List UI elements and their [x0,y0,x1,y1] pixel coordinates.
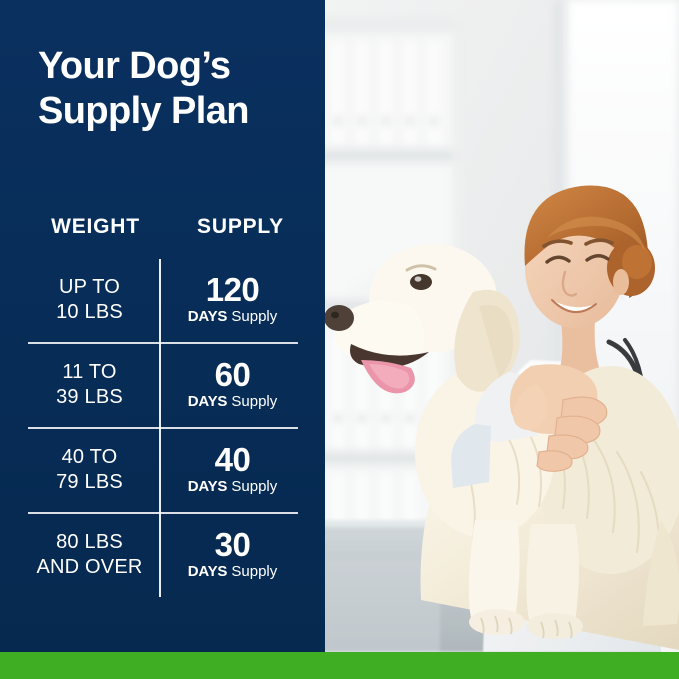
cell-supply: 120 DAYS Supply [159,273,298,326]
column-header-weight: WEIGHT [28,215,169,239]
weight-line-1: UP TO [28,275,151,300]
weight-line-1: 80 LBS [28,530,151,555]
cell-weight: 80 LBS AND OVER [28,530,159,580]
supply-days-label-bold: DAYS [188,563,228,580]
supply-days-label-rest: Supply [227,393,277,410]
table-header-row: WEIGHT SUPPLY [28,215,298,257]
supply-days-number: 60 [167,358,298,392]
supply-days-number: 120 [167,273,298,307]
column-header-supply: SUPPLY [169,215,308,239]
supply-table: WEIGHT SUPPLY UP TO 10 LBS 120 DAYS Supp… [28,215,298,605]
weight-line-2: AND OVER [28,555,151,580]
table-row: UP TO 10 LBS 120 DAYS Supply [28,257,298,342]
supply-days-label-bold: DAYS [188,478,228,495]
weight-line-2: 39 LBS [28,385,151,410]
cell-supply: 60 DAYS Supply [159,358,298,411]
supply-days-label: DAYS Supply [167,478,298,496]
vet-and-dog-photo [325,0,679,652]
supply-days-label-bold: DAYS [188,308,228,325]
cell-supply: 40 DAYS Supply [159,443,298,496]
supply-days-label: DAYS Supply [167,563,298,581]
supply-days-label-bold: DAYS [188,393,228,410]
table-row: 80 LBS AND OVER 30 DAYS Supply [28,512,298,597]
weight-line-1: 40 TO [28,445,151,470]
table-body: UP TO 10 LBS 120 DAYS Supply 11 TO 39 LB… [28,257,298,597]
cell-weight: 40 TO 79 LBS [28,445,159,495]
supply-days-label: DAYS Supply [167,308,298,326]
left-info-panel: Your Dog’s Supply Plan WEIGHT SUPPLY UP … [0,0,325,652]
weight-line-1: 11 TO [28,360,151,385]
supply-plan-infographic: Your Dog’s Supply Plan WEIGHT SUPPLY UP … [0,0,679,679]
table-row: 11 TO 39 LBS 60 DAYS Supply [28,342,298,427]
supply-days-number: 40 [167,443,298,477]
page-title-line-1: Your Dog’s [38,44,308,89]
vet-and-dog-illustration [325,0,679,652]
weight-line-2: 79 LBS [28,470,151,495]
bottom-green-bar [0,652,679,679]
table-row: 40 TO 79 LBS 40 DAYS Supply [28,427,298,512]
supply-days-label-rest: Supply [227,563,277,580]
cell-weight: UP TO 10 LBS [28,275,159,325]
weight-line-2: 10 LBS [28,300,151,325]
page-title: Your Dog’s Supply Plan [38,44,308,134]
page-title-line-2: Supply Plan [38,89,308,134]
supply-days-number: 30 [167,528,298,562]
cell-weight: 11 TO 39 LBS [28,360,159,410]
supply-days-label-rest: Supply [227,478,277,495]
cell-supply: 30 DAYS Supply [159,528,298,581]
supply-days-label-rest: Supply [227,308,277,325]
supply-days-label: DAYS Supply [167,393,298,411]
